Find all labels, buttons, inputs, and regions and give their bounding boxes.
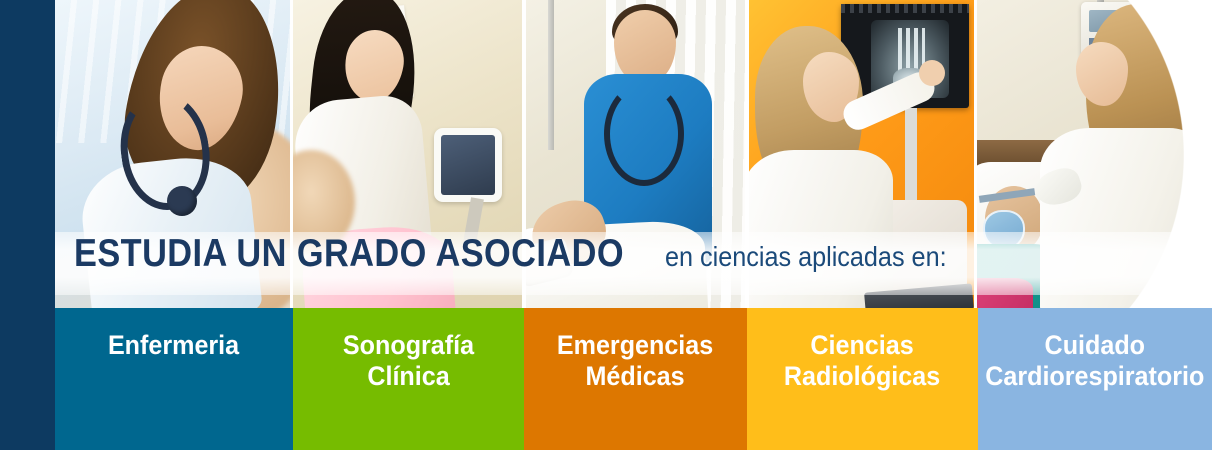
program-tiles: Enfermeria Sonografía Clínica Emergencia… — [0, 308, 1212, 450]
program-tile-label: Enfermeria — [108, 330, 239, 361]
program-promo-banner: ESTUDIA UN GRADO ASOCIADO en ciencias ap… — [0, 0, 1212, 450]
program-tile-label: Emergencias Médicas — [557, 330, 713, 393]
program-tile-label: Ciencias Radiológicas — [784, 330, 940, 393]
program-tile-enfermeria[interactable]: Enfermeria — [55, 308, 293, 450]
program-tile-ciencias-radiologicas[interactable]: Ciencias Radiológicas — [747, 308, 978, 450]
headline-secondary: en ciencias aplicadas en: — [665, 243, 947, 271]
headline: ESTUDIA UN GRADO ASOCIADO en ciencias ap… — [74, 234, 978, 292]
program-tile-cuidado-cardiorespiratorio[interactable]: Cuidado Cardiorespiratorio — [978, 308, 1212, 450]
program-tile-label: Sonografía Clínica — [343, 330, 474, 393]
program-tile-sonografia-clinica[interactable]: Sonografía Clínica — [293, 308, 524, 450]
program-tile-label: Cuidado Cardiorespiratorio — [985, 330, 1204, 393]
headline-primary: ESTUDIA UN GRADO ASOCIADO — [74, 234, 624, 273]
program-tile-emergencias-medicas[interactable]: Emergencias Médicas — [524, 308, 747, 450]
